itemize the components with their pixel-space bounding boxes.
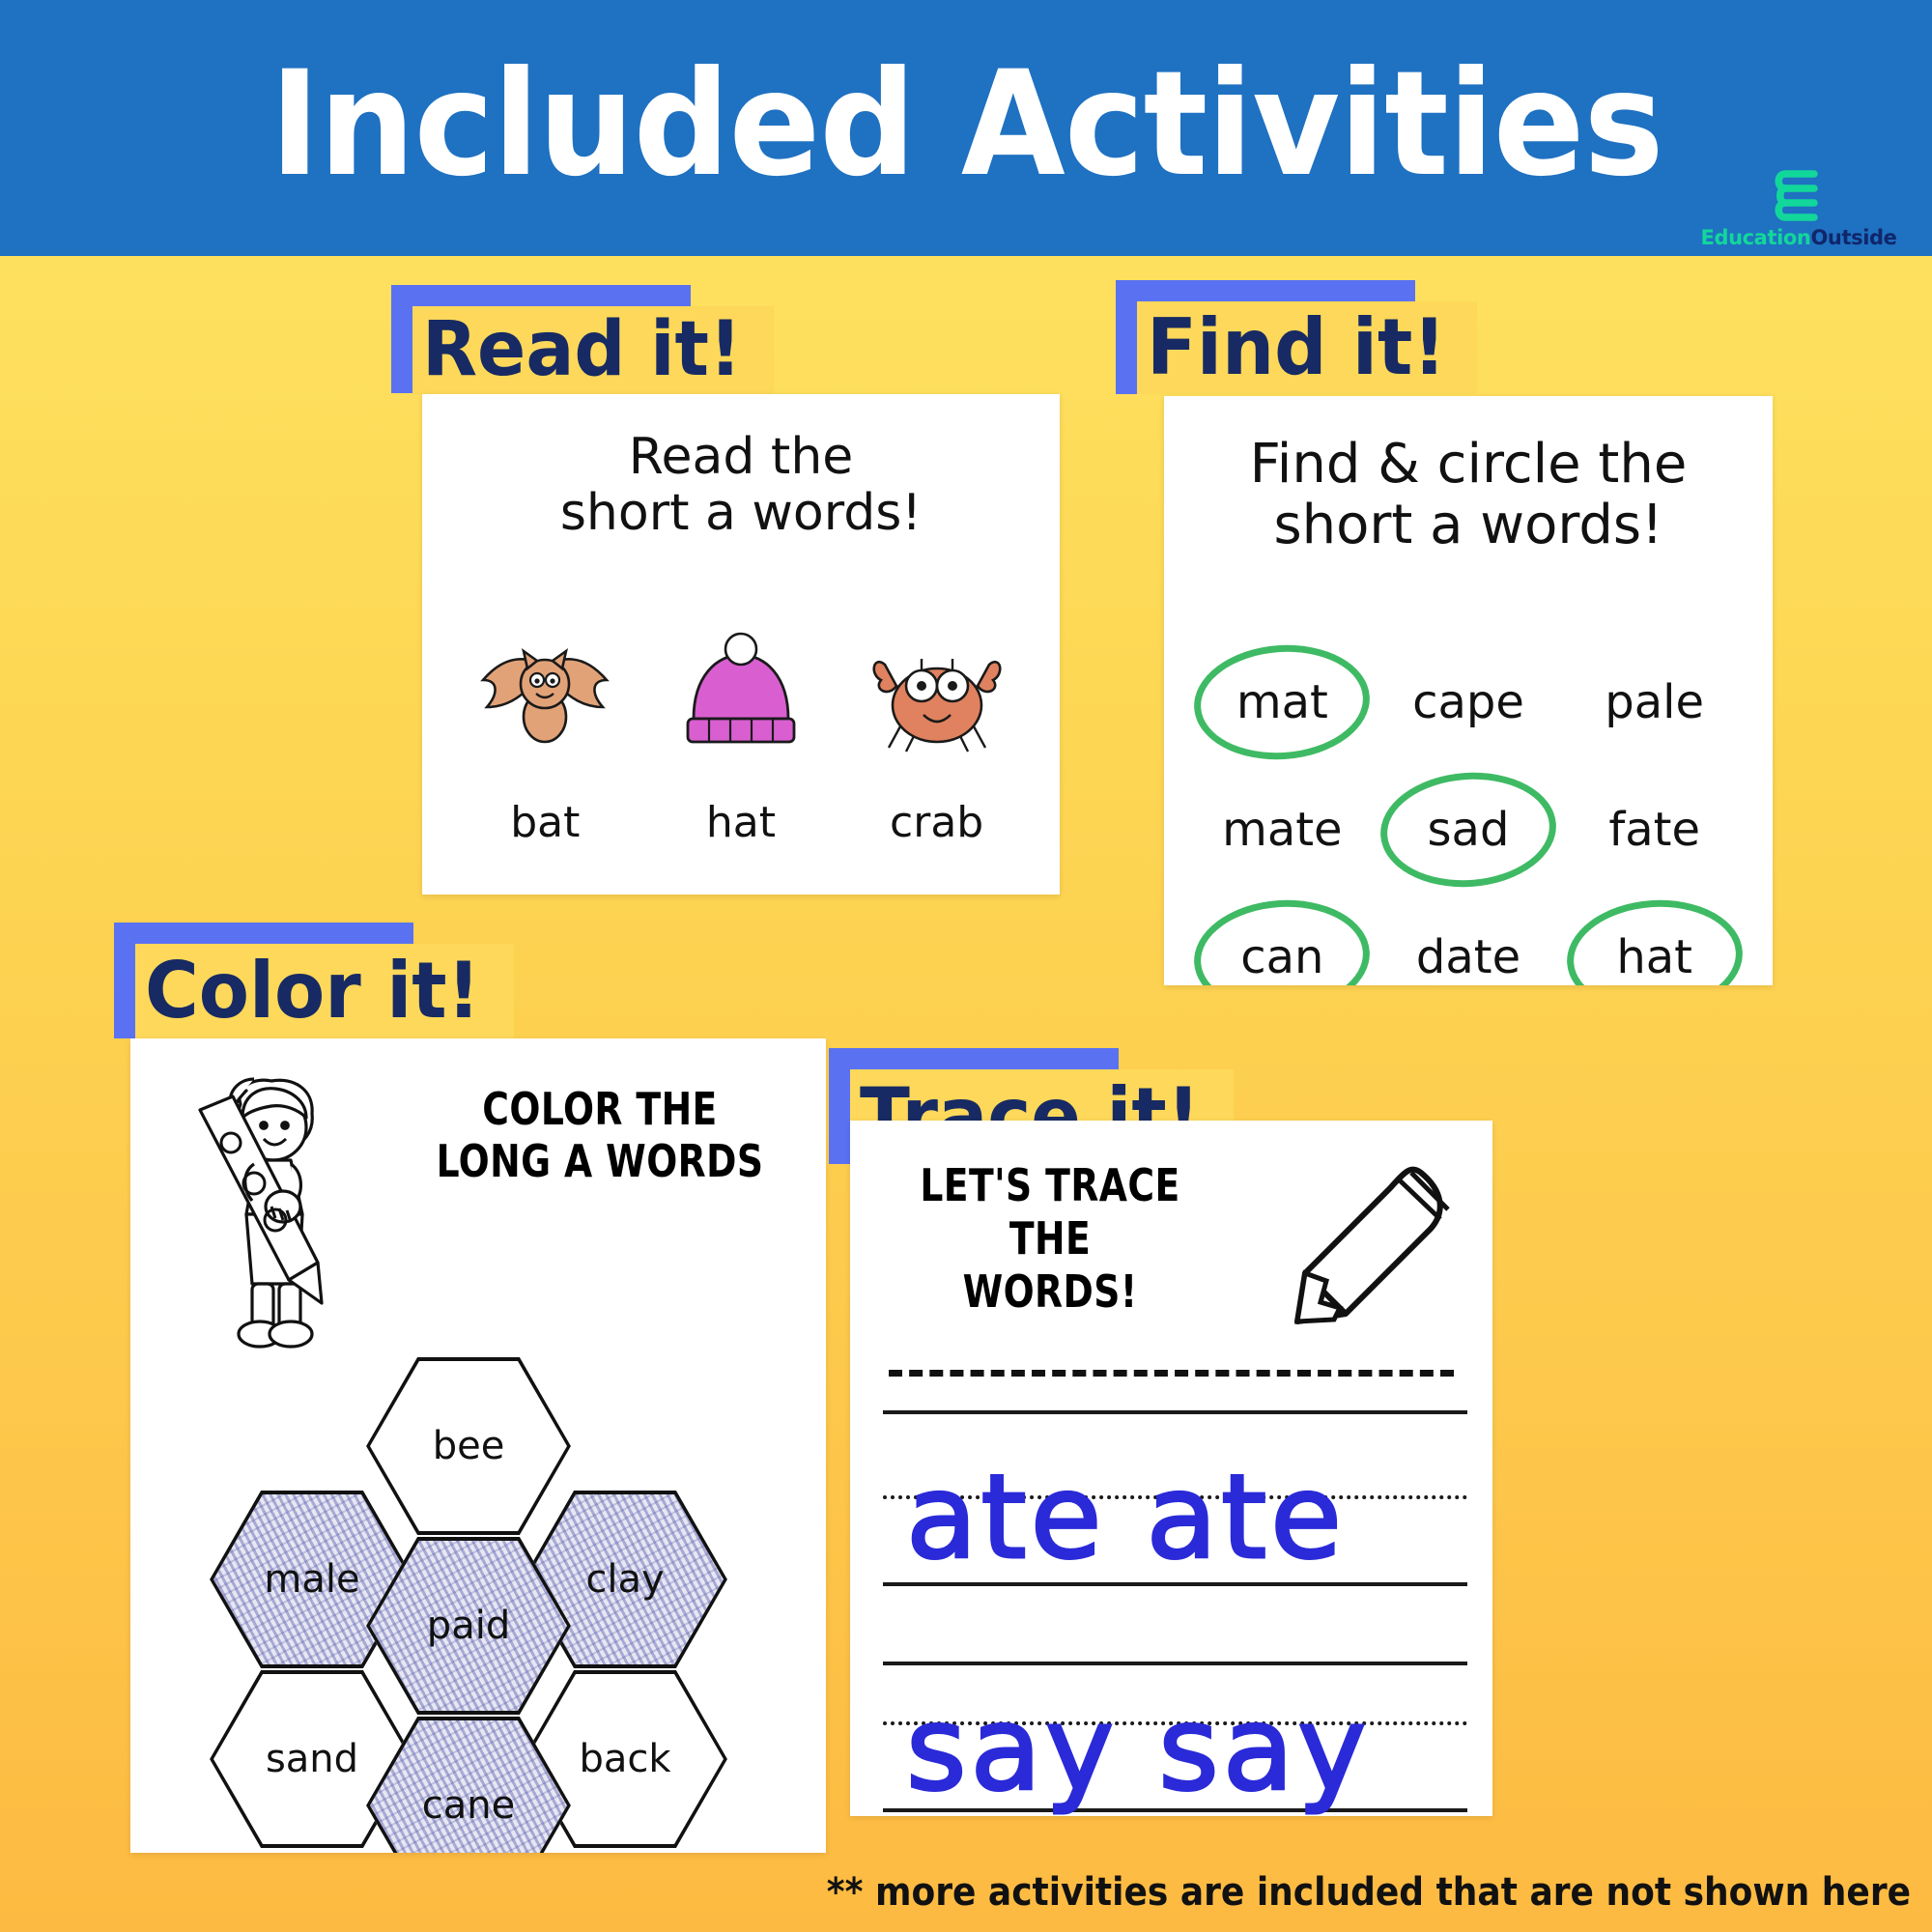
read-item-bat: bat bbox=[463, 618, 627, 847]
find-word-text: hat bbox=[1616, 930, 1692, 984]
section-label-text: Find it! bbox=[1147, 308, 1446, 387]
trace-heading-line1: LET'S TRACE bbox=[920, 1159, 1181, 1212]
color-heading-line2: LONG A WORDS bbox=[429, 1135, 771, 1187]
find-heading: Find & circle the short a words! bbox=[1189, 435, 1747, 555]
worksheet-card-read[interactable]: Read the short a words! bbox=[422, 394, 1060, 895]
hexagon-label: bee bbox=[433, 1424, 505, 1468]
page-title: Included Activities bbox=[270, 52, 1662, 197]
trace-heading: LET'S TRACE THE WORDS! bbox=[920, 1159, 1181, 1320]
color-heading-line1: COLOR THE bbox=[429, 1083, 771, 1135]
trace-heading-line2: THE WORDS! bbox=[920, 1212, 1181, 1319]
hat-drawing-icon bbox=[659, 618, 823, 753]
read-heading-line1: Read the bbox=[451, 429, 1031, 485]
brand-name: EducationOutside bbox=[1692, 228, 1905, 248]
bracket-left-bar bbox=[391, 285, 412, 393]
find-word-text: pale bbox=[1605, 675, 1704, 729]
label-plate: Color it! bbox=[135, 944, 514, 1038]
bracket-left-bar bbox=[1116, 280, 1137, 394]
read-picture-row: bat bbox=[422, 618, 1060, 847]
read-word-crab: crab bbox=[855, 798, 1019, 847]
section-label-read: Read it! bbox=[391, 285, 710, 401]
find-word-text: mat bbox=[1236, 675, 1328, 729]
worksheet-card-find[interactable]: Find & circle the short a words! mat cap… bbox=[1164, 396, 1773, 985]
footnote-text: ** more activities are included that are… bbox=[191, 1870, 1911, 1915]
hexagon-label: back bbox=[579, 1737, 670, 1781]
find-word-text: fate bbox=[1608, 803, 1700, 857]
find-word-cell[interactable]: hat bbox=[1561, 912, 1747, 985]
bracket-top-bar bbox=[391, 285, 691, 306]
brand-logo: EducationOutside bbox=[1692, 165, 1905, 248]
find-heading-line1: Find & circle the bbox=[1189, 435, 1747, 496]
trace-dashed-divider bbox=[889, 1370, 1454, 1377]
read-word-bat: bat bbox=[463, 798, 627, 847]
find-word-text: date bbox=[1416, 930, 1520, 984]
bracket-left-bar bbox=[829, 1048, 850, 1164]
section-label-find: Find it! bbox=[1116, 280, 1435, 401]
hexagon-cell[interactable]: bee bbox=[366, 1357, 571, 1535]
find-word-cell[interactable]: date bbox=[1376, 912, 1562, 985]
trace-rule-top bbox=[883, 1410, 1467, 1414]
bracket-top-bar bbox=[114, 923, 413, 944]
brand-name-part2: Outside bbox=[1810, 226, 1896, 249]
find-word-cell[interactable]: can bbox=[1189, 912, 1376, 985]
label-plate: Find it! bbox=[1137, 301, 1477, 394]
read-heading: Read the short a words! bbox=[451, 429, 1031, 541]
crab-drawing-icon bbox=[855, 618, 1019, 753]
find-word-cell[interactable]: fate bbox=[1561, 784, 1747, 875]
find-word-cell[interactable]: mate bbox=[1189, 784, 1376, 875]
color-hexagon-grid: bee male clay paid sand back cane bbox=[157, 1357, 795, 1853]
trace-word-line2[interactable]: say say bbox=[906, 1692, 1370, 1808]
section-label-text: Read it! bbox=[422, 312, 742, 389]
hexagon-label: cane bbox=[422, 1783, 515, 1828]
bracket-left-bar bbox=[114, 923, 135, 1038]
stacked-books-icon bbox=[1774, 165, 1824, 225]
trace-rule-top bbox=[883, 1662, 1467, 1665]
worksheet-card-trace[interactable]: LET'S TRACE THE WORDS! ate ate say say bbox=[850, 1121, 1492, 1816]
trace-word-line1[interactable]: ate ate bbox=[906, 1461, 1346, 1577]
bat-drawing-icon bbox=[463, 618, 627, 753]
find-word-cell[interactable]: pale bbox=[1561, 657, 1747, 748]
hexagon-label: male bbox=[264, 1557, 359, 1602]
section-label-text: Color it! bbox=[145, 952, 480, 1031]
find-word-text: cape bbox=[1412, 675, 1524, 729]
poster-canvas: Included Activities EducationOutside bbox=[0, 0, 1932, 1932]
color-heading: COLOR THE LONG A WORDS bbox=[429, 1083, 771, 1188]
read-item-hat: hat bbox=[659, 618, 823, 847]
read-heading-line2: short a words! bbox=[451, 485, 1031, 541]
find-heading-line2: short a words! bbox=[1189, 496, 1747, 556]
find-word-grid: mat cape pale mate sad fate can date hat bbox=[1189, 657, 1747, 985]
hexagon-label: clay bbox=[585, 1557, 664, 1602]
bracket-top-bar bbox=[829, 1048, 1119, 1069]
girl-with-crayon-icon bbox=[171, 1071, 384, 1351]
find-word-cell[interactable]: mat bbox=[1189, 657, 1376, 748]
find-word-cell[interactable]: sad bbox=[1376, 784, 1562, 875]
pencil-icon bbox=[1276, 1155, 1460, 1339]
brand-name-part1: Education bbox=[1701, 226, 1811, 249]
find-word-text: can bbox=[1240, 930, 1323, 984]
read-item-crab: crab bbox=[855, 618, 1019, 847]
find-word-cell[interactable]: cape bbox=[1376, 657, 1562, 748]
find-word-text: mate bbox=[1222, 803, 1343, 857]
header-bar: Included Activities EducationOutside bbox=[0, 0, 1932, 256]
hexagon-label: paid bbox=[427, 1604, 510, 1648]
read-word-hat: hat bbox=[659, 798, 823, 847]
label-plate: Read it! bbox=[412, 306, 774, 395]
bracket-top-bar bbox=[1116, 280, 1415, 301]
worksheet-card-color[interactable]: COLOR THE LONG A WORDS bee male clay pai… bbox=[130, 1038, 826, 1853]
section-label-color: Color it! bbox=[114, 923, 452, 1043]
hexagon-label: sand bbox=[266, 1737, 358, 1781]
find-word-text: sad bbox=[1428, 803, 1510, 857]
